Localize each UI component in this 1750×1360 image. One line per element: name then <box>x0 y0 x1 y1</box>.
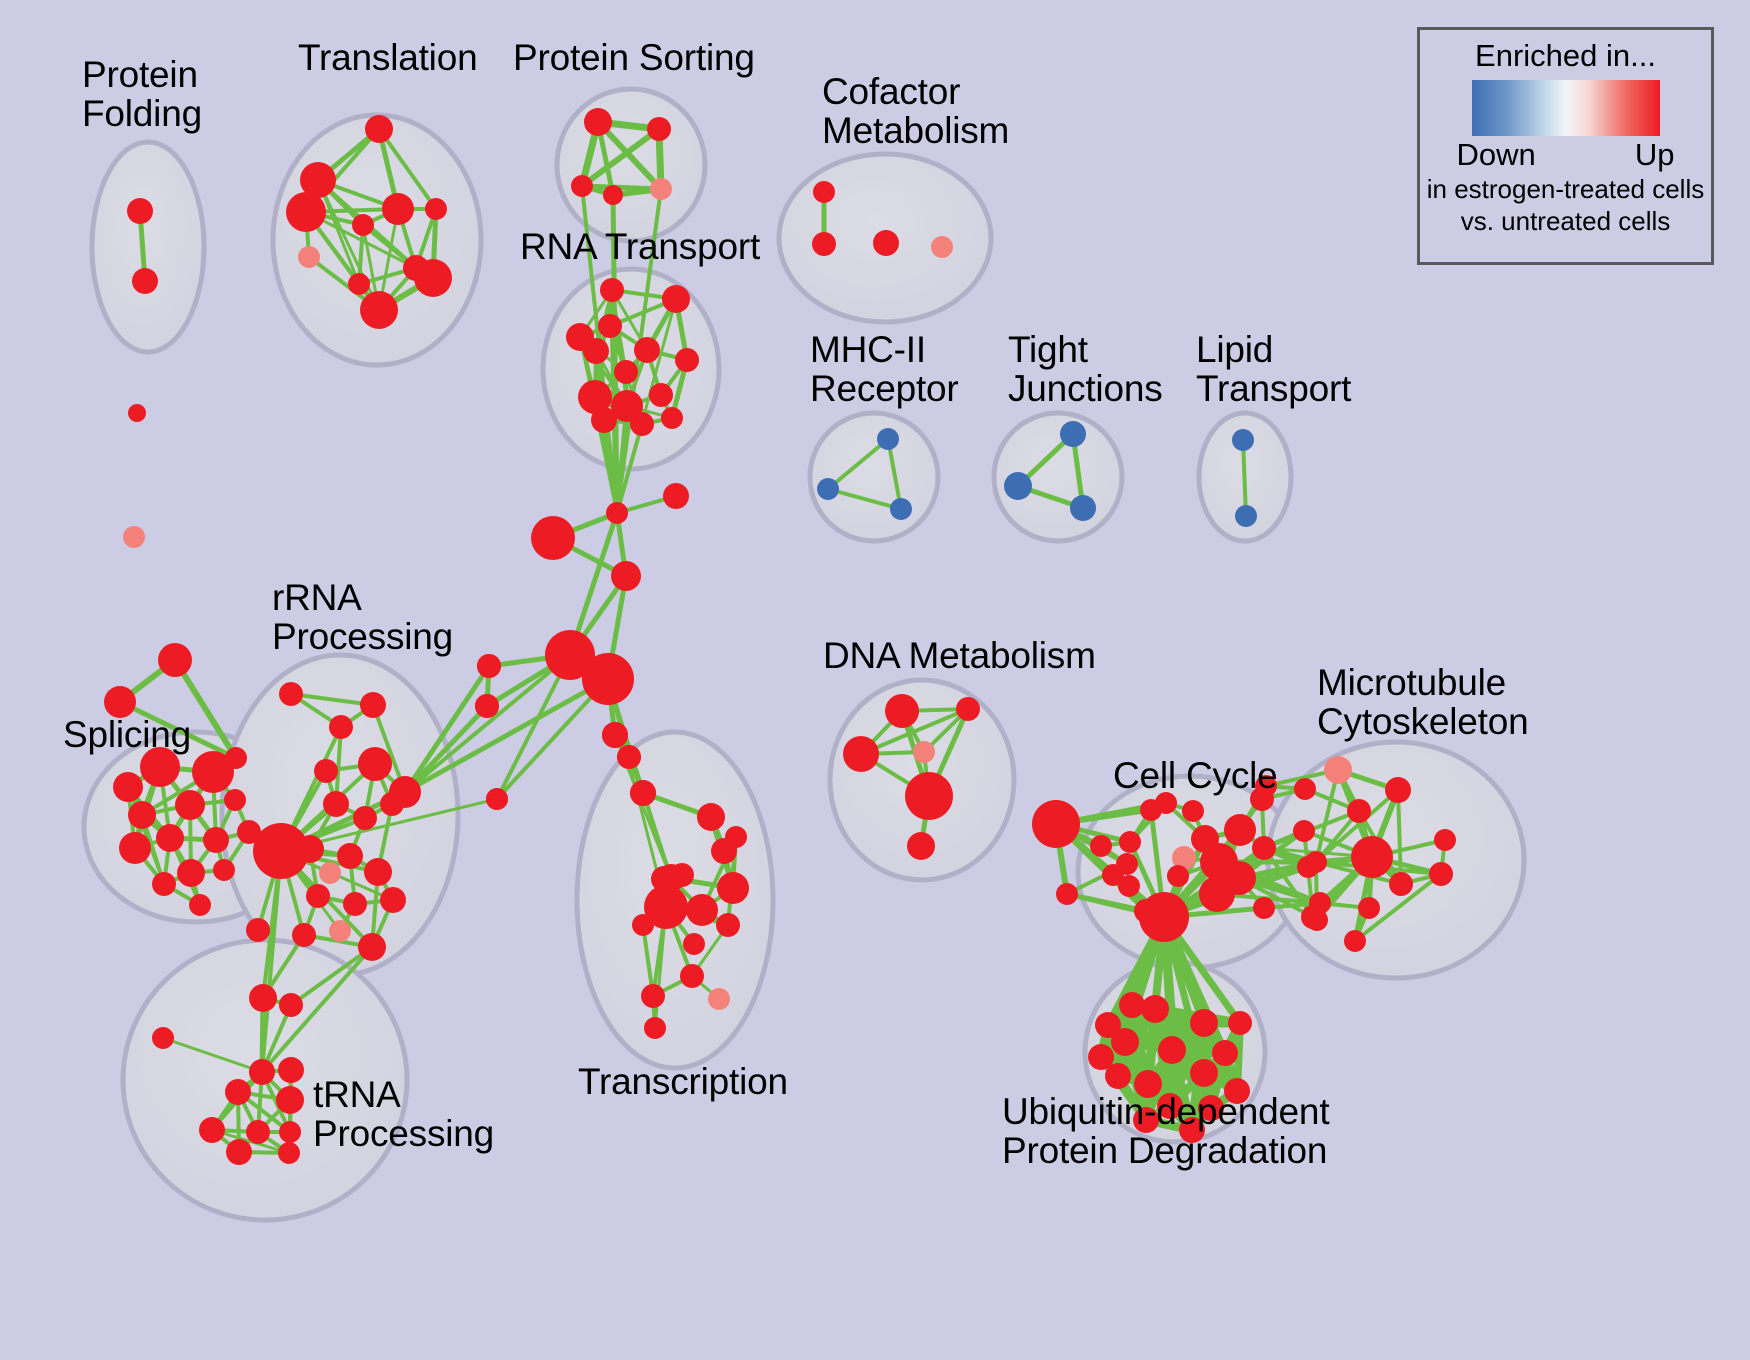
network-node[interactable] <box>583 338 609 364</box>
network-node[interactable] <box>813 181 835 203</box>
network-node[interactable] <box>380 887 406 913</box>
network-node[interactable] <box>725 826 747 848</box>
network-node[interactable] <box>1191 825 1219 853</box>
network-node[interactable] <box>680 964 704 988</box>
network-node[interactable] <box>175 790 205 820</box>
network-node[interactable] <box>475 694 499 718</box>
network-node[interactable] <box>531 516 575 560</box>
network-node[interactable] <box>1224 814 1256 846</box>
cluster-label-splicing: Splicing <box>63 715 191 754</box>
network-node[interactable] <box>634 337 660 363</box>
network-node[interactable] <box>644 885 688 929</box>
network-node[interactable] <box>1228 1011 1252 1035</box>
network-node[interactable] <box>352 214 374 236</box>
network-node[interactable] <box>292 923 316 947</box>
network-node[interactable] <box>1351 836 1393 878</box>
network-node[interactable] <box>956 697 980 721</box>
network-node[interactable] <box>1119 992 1145 1018</box>
network-node[interactable] <box>1293 820 1315 842</box>
network-figure: Protein FoldingTranslationProtein Sortin… <box>0 0 1750 1360</box>
legend-caption-line2: vs. untreated cells <box>1461 206 1671 236</box>
legend-low-label: Down <box>1457 138 1536 172</box>
cluster-hull[interactable] <box>557 89 705 241</box>
network-node[interactable] <box>1088 1044 1114 1070</box>
network-node[interactable] <box>278 1142 300 1164</box>
network-node[interactable] <box>675 348 699 372</box>
network-node[interactable] <box>812 232 836 256</box>
cluster-label-cofactor_metabolism: Cofactor Metabolism <box>822 72 1009 150</box>
network-node[interactable] <box>1389 872 1413 896</box>
network-node[interactable] <box>1235 505 1257 527</box>
network-node[interactable] <box>1324 756 1352 784</box>
network-node[interactable] <box>1060 421 1086 447</box>
network-node[interactable] <box>611 561 641 591</box>
network-node[interactable] <box>1232 429 1254 451</box>
network-node[interactable] <box>1385 777 1411 803</box>
network-node[interactable] <box>1056 883 1078 905</box>
network-node[interactable] <box>249 1059 275 1085</box>
network-node[interactable] <box>278 1057 304 1083</box>
network-node[interactable] <box>649 383 673 407</box>
network-node[interactable] <box>584 108 612 136</box>
network-node[interactable] <box>382 193 414 225</box>
network-node[interactable] <box>329 715 353 739</box>
network-node[interactable] <box>1212 1040 1238 1066</box>
network-node[interactable] <box>630 412 654 436</box>
network-node[interactable] <box>843 736 879 772</box>
network-node[interactable] <box>1095 1012 1121 1038</box>
cluster-label-microtubule: Microtubule Cytoskeleton <box>1317 663 1529 741</box>
network-node[interactable] <box>662 285 690 313</box>
network-node[interactable] <box>644 1017 666 1039</box>
legend-high-label: Up <box>1635 138 1675 172</box>
legend-panel: Enriched in... Down Up in estrogen-treat… <box>1417 27 1714 265</box>
network-node[interactable] <box>156 824 184 852</box>
network-node[interactable] <box>913 741 935 763</box>
network-node[interactable] <box>225 1079 251 1105</box>
network-node[interactable] <box>298 246 320 268</box>
network-node[interactable] <box>571 175 593 197</box>
network-node[interactable] <box>253 823 309 879</box>
network-node[interactable] <box>708 988 730 1010</box>
network-node[interactable] <box>319 862 341 884</box>
network-node[interactable] <box>199 1117 225 1143</box>
network-node[interactable] <box>380 792 404 816</box>
network-node[interactable] <box>127 198 153 224</box>
network-node[interactable] <box>279 682 303 706</box>
network-node[interactable] <box>1134 899 1158 923</box>
network-node[interactable] <box>358 747 392 781</box>
network-node[interactable] <box>817 478 839 500</box>
network-node[interactable] <box>1167 865 1189 887</box>
network-node[interactable] <box>1253 897 1275 919</box>
network-node[interactable] <box>225 747 247 769</box>
network-node[interactable] <box>717 872 749 904</box>
network-node[interactable] <box>414 259 452 297</box>
network-node[interactable] <box>603 185 623 205</box>
network-node[interactable] <box>890 498 912 520</box>
cluster-label-transcription: Transcription <box>578 1062 788 1101</box>
network-node[interactable] <box>683 933 705 955</box>
network-node[interactable] <box>128 404 146 422</box>
network-node[interactable] <box>152 872 176 896</box>
cluster-label-protein_sorting: Protein Sorting <box>513 38 755 77</box>
legend-endpoints: Down Up <box>1457 138 1675 172</box>
network-node[interactable] <box>1347 799 1371 823</box>
network-node[interactable] <box>246 1120 270 1144</box>
network-node[interactable] <box>1252 836 1276 860</box>
network-node[interactable] <box>670 863 694 887</box>
network-node[interactable] <box>425 198 447 220</box>
network-node[interactable] <box>1070 495 1096 521</box>
network-node[interactable] <box>1116 853 1138 875</box>
network-node[interactable] <box>358 933 386 961</box>
network-node[interactable] <box>224 789 246 811</box>
network-node[interactable] <box>213 859 235 881</box>
cluster-label-ubiquitin: Ubiquitin-dependent Protein Degradation <box>1002 1092 1329 1170</box>
network-node[interactable] <box>1119 831 1141 853</box>
network-node[interactable] <box>630 780 656 806</box>
network-node[interactable] <box>661 407 683 429</box>
network-node[interactable] <box>226 1139 252 1165</box>
cluster-label-translation: Translation <box>298 38 477 77</box>
network-node[interactable] <box>663 483 689 509</box>
network-node[interactable] <box>286 192 326 232</box>
network-node[interactable] <box>931 236 953 258</box>
network-node[interactable] <box>279 1121 301 1143</box>
network-node[interactable] <box>1434 829 1456 851</box>
network-node[interactable] <box>1090 835 1112 857</box>
cluster-label-trna_processing: tRNA Processing <box>313 1075 494 1153</box>
network-node[interactable] <box>885 694 919 728</box>
network-node[interactable] <box>1358 897 1380 919</box>
network-node[interactable] <box>158 643 192 677</box>
network-node[interactable] <box>477 654 501 678</box>
legend-colorbar <box>1472 80 1660 136</box>
network-node[interactable] <box>591 407 617 433</box>
network-node[interactable] <box>1190 1059 1218 1087</box>
legend-caption-line1: in estrogen-treated cells <box>1427 174 1704 204</box>
network-node[interactable] <box>360 291 398 329</box>
network-node[interactable] <box>348 273 370 295</box>
cluster-label-mhc_ii: MHC-II Receptor <box>810 330 959 408</box>
network-node[interactable] <box>276 1086 304 1114</box>
legend-title: Enriched in... <box>1475 39 1656 73</box>
network-node[interactable] <box>337 843 363 869</box>
network-node[interactable] <box>686 894 718 926</box>
network-node[interactable] <box>1141 995 1169 1023</box>
network-node[interactable] <box>907 832 935 860</box>
network-node[interactable] <box>641 984 665 1008</box>
network-node[interactable] <box>1118 875 1140 897</box>
network-node[interactable] <box>364 858 392 886</box>
cluster-label-protein_folding: Protein Folding <box>82 55 202 133</box>
network-node[interactable] <box>873 230 899 256</box>
network-node[interactable] <box>365 115 393 143</box>
network-node[interactable] <box>113 772 143 802</box>
network-node[interactable] <box>203 827 229 853</box>
network-node[interactable] <box>1004 472 1032 500</box>
network-node[interactable] <box>877 428 899 450</box>
network-node[interactable] <box>1190 1009 1218 1037</box>
network-node[interactable] <box>598 314 622 338</box>
network-node[interactable] <box>600 278 624 302</box>
cluster-label-lipid_transport: Lipid Transport <box>1196 330 1351 408</box>
network-node[interactable] <box>353 806 377 830</box>
network-node[interactable] <box>486 788 508 810</box>
network-node[interactable] <box>128 801 156 829</box>
network-node[interactable] <box>119 832 151 864</box>
network-node[interactable] <box>905 772 953 820</box>
cluster-hull[interactable] <box>810 413 938 541</box>
network-node[interactable] <box>1222 861 1256 895</box>
network-node[interactable] <box>246 918 270 942</box>
network-node[interactable] <box>323 791 349 817</box>
network-node[interactable] <box>152 1027 174 1049</box>
network-node[interactable] <box>650 178 672 200</box>
cluster-label-rrna_processing: rRNA Processing <box>272 578 453 656</box>
network-node[interactable] <box>606 502 628 524</box>
network-node[interactable] <box>132 268 158 294</box>
network-node[interactable] <box>617 745 641 769</box>
network-node[interactable] <box>1306 909 1328 931</box>
cluster-label-tight_junctions: Tight Junctions <box>1008 330 1163 408</box>
cluster-hull[interactable] <box>92 142 204 352</box>
network-node[interactable] <box>343 892 367 916</box>
network-node[interactable] <box>329 920 351 942</box>
network-node[interactable] <box>1158 1036 1186 1064</box>
network-node[interactable] <box>177 859 205 887</box>
network-node[interactable] <box>716 913 740 937</box>
network-node[interactable] <box>1429 862 1453 886</box>
network-node[interactable] <box>614 360 638 384</box>
network-node[interactable] <box>123 526 145 548</box>
network-node[interactable] <box>602 722 628 748</box>
cluster-label-dna_metabolism: DNA Metabolism <box>823 636 1096 675</box>
network-node[interactable] <box>1032 800 1080 848</box>
network-node[interactable] <box>647 117 671 141</box>
network-node[interactable] <box>1182 800 1204 822</box>
network-node[interactable] <box>1344 930 1366 952</box>
network-node[interactable] <box>360 692 386 718</box>
network-node[interactable] <box>582 653 634 705</box>
network-node[interactable] <box>314 759 338 783</box>
network-node[interactable] <box>697 803 725 831</box>
network-node[interactable] <box>279 993 303 1017</box>
cluster-label-cell_cycle: Cell Cycle <box>1113 756 1278 795</box>
network-node[interactable] <box>1294 778 1316 800</box>
network-node[interactable] <box>189 894 211 916</box>
network-node[interactable] <box>306 884 330 908</box>
cluster-label-rna_transport: RNA Transport <box>520 227 760 266</box>
network-node[interactable] <box>1305 851 1327 873</box>
network-node[interactable] <box>249 984 277 1012</box>
